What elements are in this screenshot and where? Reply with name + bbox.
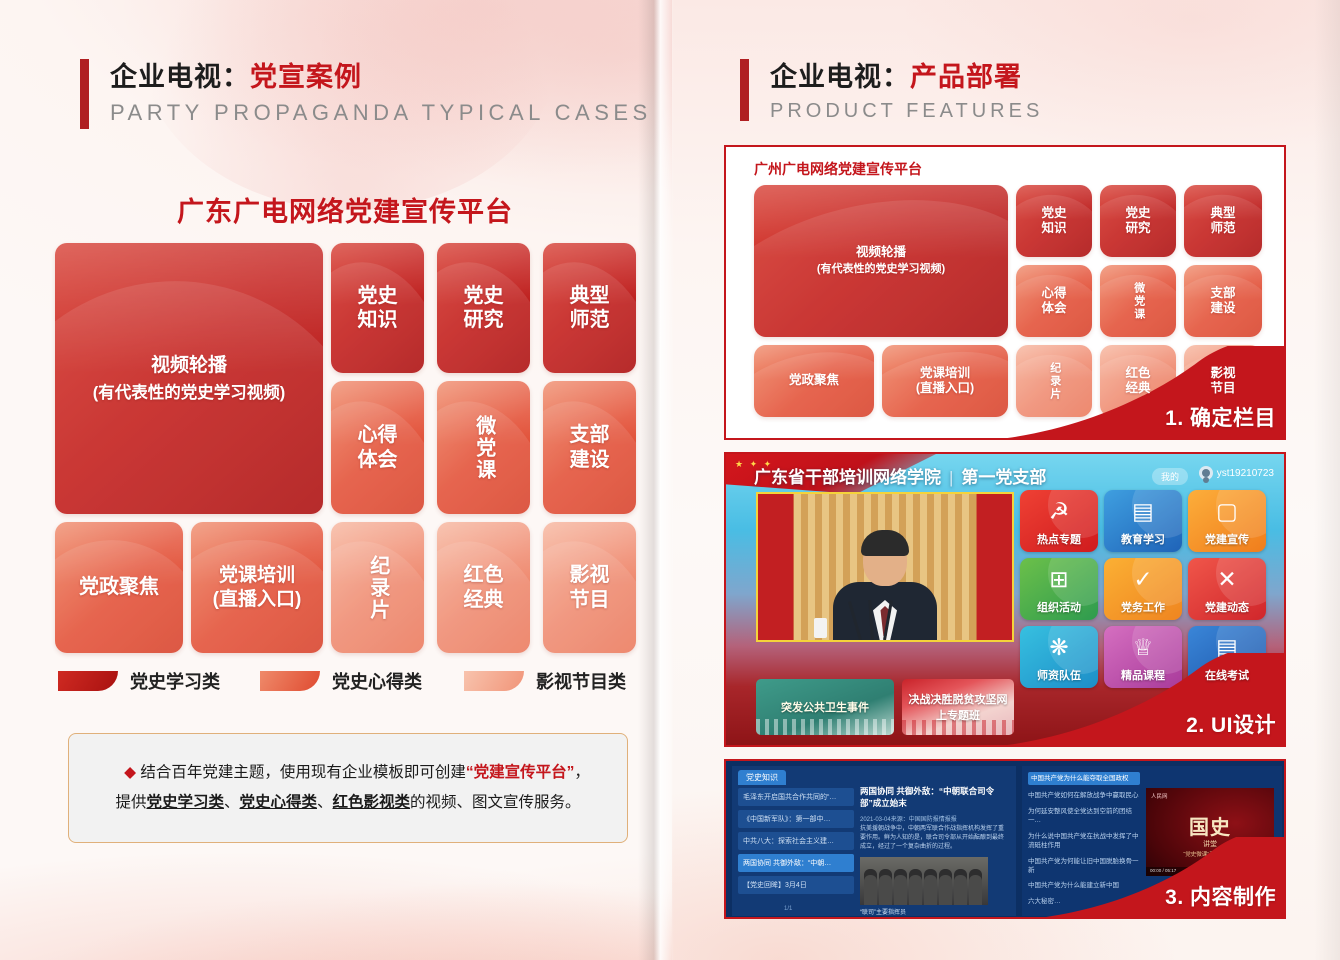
right-header-highlight: 产品部署 [910,62,1022,92]
tile-party-history-knowledge[interactable]: 党史知识 [1016,185,1092,257]
list-item[interactable]: 中共八大：探索社会主义建… [738,832,854,850]
app-icon-grid: ☭热点专题 ▤教育学习 ▢党建宣传 ⊞组织活动 ✓党务工作 ✕党建动态 ❋师资队… [1020,490,1272,688]
note-sep-1: 、 [224,794,240,811]
right-header-prefix: 企业电视： [770,62,910,92]
tile-label: 党政聚焦 [79,575,159,599]
app-icon-label: 党务工作 [1121,599,1165,615]
list-item[interactable]: 【党史回眸】3月4日 [738,876,854,894]
legend-item-study: 党史学习类 [58,668,220,694]
question-item[interactable]: 中国共产党如何在解放战争中赢取民心 [1028,791,1140,800]
tile-micro-party-class[interactable]: 微党课 [437,381,530,514]
tile-video-carousel[interactable]: 视频轮播 (有代表性的党史学习视频) [55,243,323,514]
banner-text: 决战决胜脱贫攻坚网上专题班 [902,691,1014,723]
tile-branch-building[interactable]: 支部建设 [543,381,636,514]
left-header-highlight: 党宣案例 [250,62,362,92]
hammer-sickle-icon: ☭ [1020,500,1098,523]
user-account[interactable]: yst19210723 [1199,466,1274,480]
legend-item-reflection: 党史心得类 [260,668,422,694]
list-item[interactable]: 《中国新军队》：第一部中… [738,810,854,828]
video-time-label: 00:00 / 05:17 [1150,868,1176,873]
tile-party-class-training[interactable]: 党课培训(直播入口) [191,522,323,653]
video-player-thumbnail[interactable] [756,492,1014,642]
tile-label: 红色经典 [1125,366,1150,397]
note-underline-3: 红色影视类 [333,794,411,811]
tile-label: 微党课 [471,415,495,481]
tile-party-history-research[interactable]: 党史研究 [1100,185,1176,257]
whiteboard-icon: ▢ [1188,500,1266,523]
note-sep-2: 、 [317,794,333,811]
check-circle-icon: ✓ [1104,568,1182,591]
tile-line-1: 视频轮播 [856,245,906,259]
note-line-2: 提供党史学习类、党史心得类、红色影视类的视频、图文宣传服务。 [69,788,627,818]
article-title: 两国协同 共御外敌：“中朝联合司令部”成立始末 [860,786,1008,810]
app-icon-label: 精品课程 [1121,667,1165,683]
right-header-title-cn: 企业电视：产品部署 [770,55,1043,94]
tile-label: 支部建设 [570,423,610,472]
right-header-title-en: PRODUCT FEATURES [770,100,1043,123]
username-label: yst19210723 [1217,468,1274,479]
tile-party-class-training[interactable]: 党课培训(直播入口) [882,345,1008,417]
note-line-2-lead: 提供 [115,794,146,811]
card1-title: 广州广电网络党建宣传平台 [754,159,922,179]
legend-label: 影视节目类 [536,668,626,694]
tile-red-classics[interactable]: 红色经典 [437,522,530,653]
brand-logo-label: 人民网 [1151,792,1168,800]
question-item-selected[interactable]: 中国共产党为什么能夺取全国政权 [1028,772,1140,785]
tile-party-gov-focus[interactable]: 党政聚焦 [55,522,183,653]
video-title: 国史 [1189,811,1231,840]
tile-line-2: (有代表性的党史学习视频) [85,383,294,403]
legend-label: 党史心得类 [332,668,422,694]
banner-poverty-alleviation[interactable]: 决战决胜脱贫攻坚网上专题班 [902,679,1014,735]
flag-cross-icon: ✕ [1188,568,1266,591]
tile-label: 影视节目 [1210,366,1235,397]
list-item-selected[interactable]: 两国协同 共御外敌：“中朝… [738,854,854,872]
tile-party-history-knowledge[interactable]: 党史知识 [331,243,424,373]
people-icon: ❋ [1020,636,1098,659]
tile-label: 党史研究 [464,284,504,333]
promo-banner-row: 突发公共卫生事件 决战决胜脱贫攻坚网上专题班 [756,679,1014,735]
note-line-1-text: 结合百年党建主题，使用现有企业模板即可创建 [140,764,466,781]
card2-site-title: 广东省干部培训网络学院|第一党支部 [754,463,1046,488]
tile-label: 纪录片 [365,555,389,621]
legend-swatch-icon [260,671,320,691]
microphones-icon [855,596,895,640]
left-page-header: 企业电视：党宣案例 PARTY PROPAGANDA TYPICAL CASES [80,55,652,126]
question-item[interactable]: 为什么说中国共产党在抗战中发挥了中流砥柱作用 [1028,832,1140,851]
page-edge-shadow [1314,0,1340,960]
platform-title: 广东广电网络党建宣传平台 [55,190,635,229]
site-branch-text: 第一党支部 [961,468,1046,487]
article-pane: 两国协同 共御外敌：“中朝联合司令部”成立始末 2021-03-04来源：中国国… [860,786,1008,916]
app-icon-label: 教育学习 [1121,531,1165,547]
tile-label: 典型师范 [1210,206,1235,237]
app-icon-label: 师资队伍 [1037,667,1081,683]
tile-film-program[interactable]: 影视节目 [1184,345,1262,417]
tile-video-carousel[interactable]: 视频轮播 (有代表性的党史学习视频) [754,185,1008,337]
tile-reflections[interactable]: 心得体会 [1016,265,1092,337]
app-icon-label: 党建动态 [1205,599,1249,615]
app-icon-education[interactable]: ▤教育学习 [1104,490,1182,552]
tile-documentary[interactable]: 纪录片 [331,522,424,653]
mine-badge[interactable]: 我的 [1152,468,1188,485]
app-icon-label: 组织活动 [1037,599,1081,615]
video-subtitle: 讲堂 [1203,839,1217,849]
article-body: 抗美援朝战争中，中朝两军联合作战指挥机构发挥了重要作用。鲜为人知的是，联合司令部… [860,825,1008,853]
card-step-2-ui-design: ★ ✦ ✦ 广东省干部培训网络学院|第一党支部 我的 yst19210723 [724,452,1286,747]
legend-label: 党史学习类 [130,668,220,694]
app-icon-party-news[interactable]: ✕党建动态 [1188,558,1266,620]
app-icon-party-affairs[interactable]: ✓党务工作 [1104,558,1182,620]
diamond-bullet-icon: ◆ [124,764,136,781]
city-skyline-icon [756,719,894,735]
tile-label: 纪录片 [1047,362,1060,401]
app-icon-label: 热点专题 [1037,531,1081,547]
article-meta: 2021-03-04来源：中国国防报情报报 [860,814,1008,823]
card-step-1-columns: 广州广电网络党建宣传平台 视频轮播 (有代表性的党史学习视频) 党史知识 党史研… [724,145,1286,440]
video-tagline: “党史微课”系列短视频 [1183,850,1236,858]
legend-swatch-icon [464,671,524,691]
photo-figures [864,869,984,905]
tile-label: 党课培训(直播入口) [916,366,974,397]
list-item[interactable]: 毛泽东开启国共合作共同的“… [738,788,854,806]
app-icon-label: 党建宣传 [1205,531,1249,547]
note-line-1-tail: ， [574,764,590,781]
card-step-3-content-production: 党史知识 毛泽东开启国共合作共同的“… 《中国新军队》：第一部中… 中共八大：探… [724,759,1286,919]
tile-line-1: 视频轮播 [85,354,294,377]
article-photo [860,857,988,905]
question-item[interactable]: 中国共产党为什么能建立新中国 [1028,881,1140,890]
tile-label: 党史知识 [358,284,398,333]
question-item[interactable]: 为何延安整风使全党达到空前的团结一… [1028,807,1140,826]
content-screen-right: 中国共产党为什么能夺取全国政权 中国共产党如何在解放战争中赢取民心 为何延安整风… [1022,766,1282,916]
left-header-prefix: 企业电视： [110,62,250,92]
right-page-header: 企业电视：产品部署 PRODUCT FEATURES [740,55,1043,123]
left-header-title-cn: 企业电视：党宣案例 [110,55,652,94]
note-line-1: ◆ 结合百年党建主题，使用现有企业模板即可创建“党建宣传平台”， [69,758,627,788]
tile-label: 影视节目 [570,563,610,612]
document-icon: ▤ [1188,636,1266,659]
tile-label: 党课培训(直播入口) [213,564,302,610]
avatar-icon [1199,466,1213,480]
org-chart-icon: ⊞ [1020,568,1098,591]
banner-text: 突发公共卫生事件 [775,699,875,715]
tile-branch-building[interactable]: 支部建设 [1184,265,1262,337]
tile-label: 党政聚焦 [789,373,839,388]
app-icon-propaganda[interactable]: ▢党建宣传 [1188,490,1266,552]
tile-line-2: (有代表性的党史学习视频) [817,263,945,276]
header-accent-bar [80,59,89,129]
tile-label: 党史知识 [1041,206,1066,237]
question-list: 中国共产党为什么能夺取全国政权 中国共产党如何在解放战争中赢取民心 为何延安整风… [1028,772,1140,912]
tile-label: 微党课 [1131,282,1144,321]
question-item[interactable]: 六大秘密… [1028,897,1140,906]
legend-swatch-icon [58,671,118,691]
article-photo-caption: “联司”主要指挥员 [860,907,1008,916]
tile-film-program[interactable]: 影视节目 [543,522,636,653]
page-spine-shadow [638,0,674,960]
tile-party-gov-focus[interactable]: 党政聚焦 [754,345,874,417]
app-icon-org-activity[interactable]: ⊞组织活动 [1020,558,1098,620]
site-title-text: 广东省干部培训网络学院 [754,468,941,487]
tab-party-history-knowledge[interactable]: 党史知识 [738,770,786,785]
tile-label: 视频轮播 (有代表性的党史学习视频) [77,354,302,402]
card1-tile-grid: 视频轮播 (有代表性的党史学习视频) 党史知识 党史研究 典型师范 心得体会 微… [754,185,1262,423]
poster-stage: 企业电视：党宣案例 PARTY PROPAGANDA TYPICAL CASES… [0,0,1340,960]
speaker-hair [861,530,909,556]
tile-label: 视频轮播 (有代表性的党史学习视频) [817,245,945,277]
tile-typical-model[interactable]: 典型师范 [1184,185,1262,257]
header-accent-bar [740,59,749,121]
left-header-title-en: PARTY PROPAGANDA TYPICAL CASES [110,100,652,126]
video-below-label: 中国新青年… [1146,903,1182,912]
video-thumbnail-guoshi[interactable]: 人民网 国史 讲堂 “党史微课”系列短视频 00:00 / 05:17 [1146,788,1274,876]
note-line-1-highlight: “党建宣传平台” [466,764,575,781]
app-icon-exam[interactable]: ▤在线考试 [1188,626,1266,688]
tile-red-classics[interactable]: 红色经典 [1100,345,1176,417]
tile-label: 党史研究 [1125,206,1150,237]
left-tile-grid: 视频轮播 (有代表性的党史学习视频) 党史知识 党史研究 典型师范 心得体会 微… [55,243,635,653]
content-screen-left: 党史知识 毛泽东开启国共合作共同的“… 《中国新军队》：第一部中… 中共八大：探… [732,766,1016,916]
tile-label: 心得体会 [1041,286,1066,317]
legend: 党史学习类 党史心得类 影视节目类 [58,668,638,694]
site-title-separator: | [949,468,953,487]
video-progress-bar[interactable]: 00:00 / 05:17 [1146,867,1274,876]
tile-reflections[interactable]: 心得体会 [331,381,424,514]
tile-label: 支部建设 [1210,286,1235,317]
note-underline-2: 党史心得类 [239,794,317,811]
note-line-2-tail: 的视频、图文宣传服务。 [410,794,581,811]
tile-label: 心得体会 [358,423,398,472]
book-icon: ▤ [1104,500,1182,523]
app-icon-quality-courses[interactable]: ♕精品课程 [1104,626,1182,688]
tile-label: 典型师范 [570,284,610,333]
pager-label: 1/1 [784,906,792,912]
app-icon-faculty[interactable]: ❋师资队伍 [1020,626,1098,688]
tile-party-history-research[interactable]: 党史研究 [437,243,530,373]
note-underline-1: 党史学习类 [146,794,224,811]
app-icon-label: 在线考试 [1205,667,1249,683]
tile-micro-party-class[interactable]: 微党课 [1100,265,1176,337]
tile-label: 红色经典 [464,563,504,612]
question-item[interactable]: 中国共产党为何能让旧中国脱胎换骨一新 [1028,857,1140,876]
article-list: 毛泽东开启国共合作共同的“… 《中国新军队》：第一部中… 中共八大：探索社会主义… [738,788,854,898]
legend-item-film: 影视节目类 [464,668,626,694]
banner-public-health[interactable]: 突发公共卫生事件 [756,679,894,735]
tile-typical-model[interactable]: 典型师范 [543,243,636,373]
water-cup [814,618,827,638]
tile-documentary[interactable]: 纪录片 [1016,345,1092,417]
app-icon-hot-topics[interactable]: ☭热点专题 [1020,490,1098,552]
trophy-icon: ♕ [1104,636,1182,659]
summary-note-box: ◆ 结合百年党建主题，使用现有企业模板即可创建“党建宣传平台”， 提供党史学习类… [68,733,628,843]
